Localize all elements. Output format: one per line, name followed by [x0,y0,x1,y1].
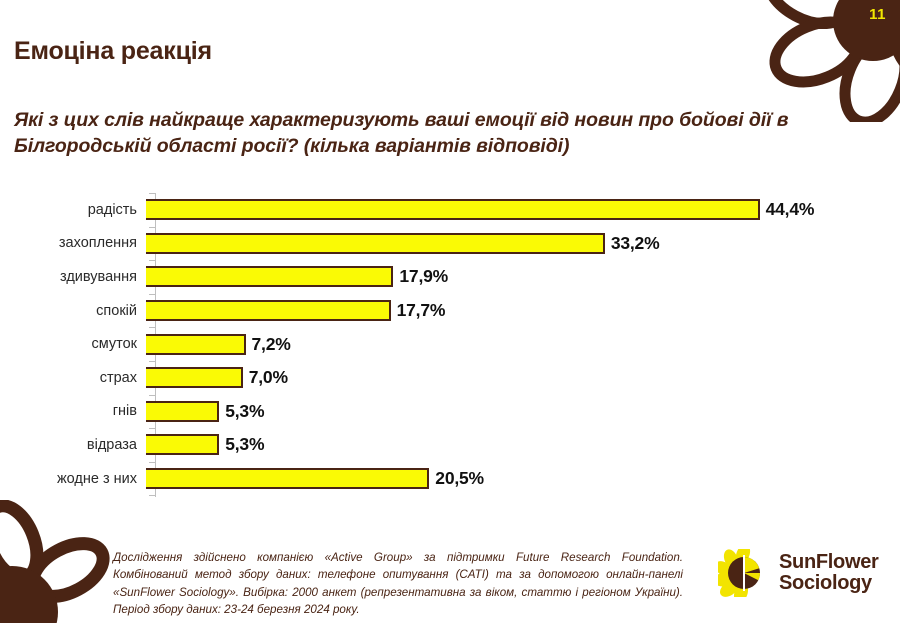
methodology-note: Дослідження здійснено компанією «Active … [113,549,683,619]
bar-track: 44,4% [146,193,900,227]
axis-tick [149,227,155,228]
logo-line-1: SunFlower [779,552,879,573]
bar-value-label: 17,7% [397,300,446,321]
question-subtitle: Які з цих слів найкраще характеризують в… [14,108,894,160]
bar-track: 5,3% [146,428,900,462]
slide-footer: Дослідження здійснено компанією «Active … [0,537,900,623]
axis-tick [149,428,155,429]
bar-row: страх7,0% [0,361,900,395]
page-title: Емоціна реакція [14,38,212,64]
bar [146,367,243,388]
sunflower-logo-icon [718,549,772,597]
page-number: 11 [869,6,886,23]
bar-value-label: 5,3% [225,401,264,422]
bar-row: здивування17,9% [0,260,900,294]
bar-category-label: захоплення [0,235,146,251]
bar-category-label: здивування [0,269,146,285]
bar-category-label: смуток [0,336,146,352]
bar [146,233,605,254]
bar-category-label: спокій [0,303,146,319]
bar-track: 17,7% [146,294,900,328]
bar-row: спокій17,7% [0,294,900,328]
bar-track: 20,5% [146,462,900,496]
bar-row: смуток7,2% [0,327,900,361]
bar-value-label: 5,3% [225,434,264,455]
bar-category-label: жодне з них [0,471,146,487]
bar-track: 7,0% [146,361,900,395]
bar-category-label: страх [0,370,146,386]
axis-tick [149,361,155,362]
bar [146,199,760,220]
bar-value-label: 44,4% [766,199,815,220]
bar [146,334,246,355]
bar-row: захоплення33,2% [0,227,900,261]
axis-tick [149,327,155,328]
axis-tick [149,495,155,496]
bar-chart-rows: радість44,4%захоплення33,2%здивування17,… [0,193,900,495]
axis-tick [149,260,155,261]
bar [146,434,219,455]
bar-value-label: 7,2% [252,334,291,355]
bar-track: 33,2% [146,227,900,261]
bar-value-label: 7,0% [249,367,288,388]
bar [146,266,393,287]
bar-track: 5,3% [146,395,900,429]
bar-row: відраза5,3% [0,428,900,462]
axis-tick [149,462,155,463]
bar-category-label: радість [0,202,146,218]
bar-value-label: 20,5% [435,468,484,489]
bar-row: радість44,4% [0,193,900,227]
bar [146,300,391,321]
axis-tick [149,395,155,396]
slide-root: 11 Емоціна реакція Які з цих слів найкра… [0,0,900,623]
bar-value-label: 33,2% [611,233,660,254]
axis-tick [149,193,155,194]
axis-tick [149,294,155,295]
bar-chart: радість44,4%захоплення33,2%здивування17,… [0,193,900,533]
bar [146,401,219,422]
bar-row: гнів5,3% [0,395,900,429]
bar [146,468,429,489]
bar-track: 7,2% [146,327,900,361]
bar-track: 17,9% [146,260,900,294]
sunflower-sociology-logo: SunFlower Sociology [718,549,879,597]
logo-line-2: Sociology [779,573,879,594]
logo-wordmark: SunFlower Sociology [779,552,879,594]
bar-value-label: 17,9% [399,266,448,287]
bar-category-label: відраза [0,437,146,453]
bar-row: жодне з них20,5% [0,462,900,496]
bar-category-label: гнів [0,403,146,419]
